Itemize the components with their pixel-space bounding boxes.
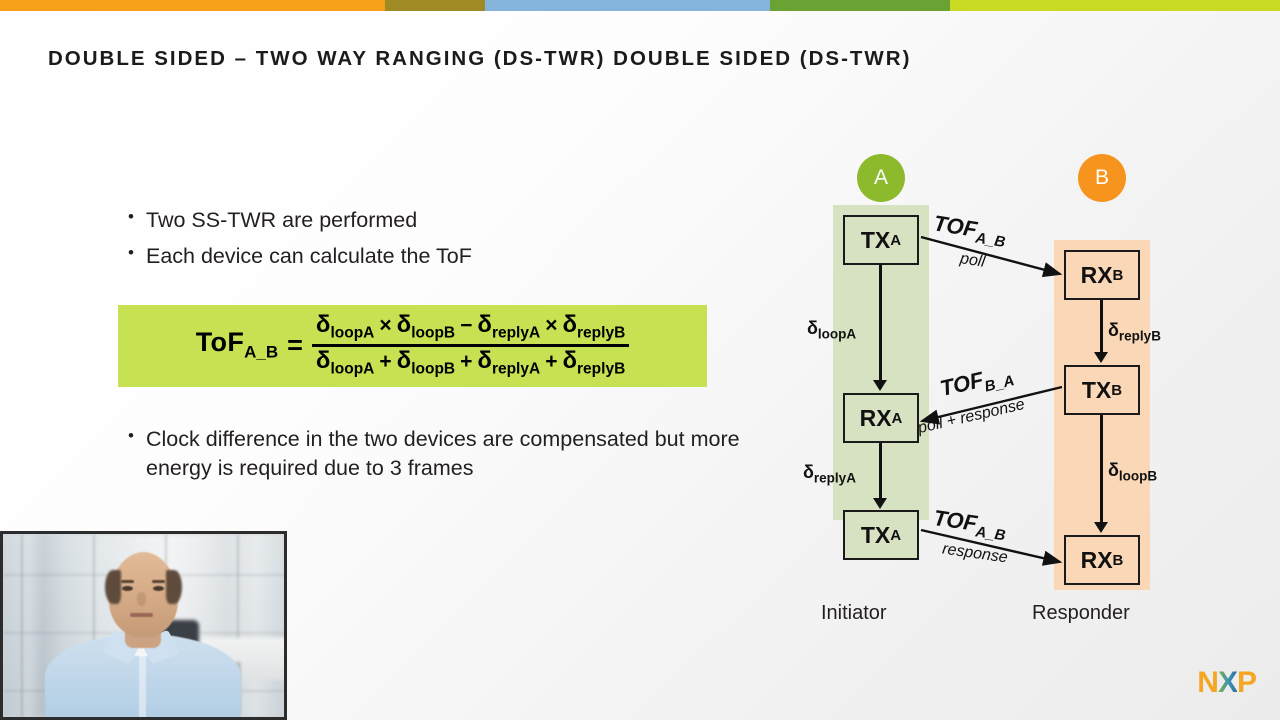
operator: −: [460, 314, 472, 337]
delta-symbol: δ: [397, 311, 412, 338]
caption-text: poll: [959, 250, 986, 271]
logo-letter-x: X: [1218, 666, 1237, 699]
delta-subscript: loopA: [330, 325, 374, 342]
presenter-eyebrow-right: [152, 580, 165, 583]
delta-subscript: replyB: [577, 360, 625, 377]
presenter-eye-right: [153, 586, 164, 591]
operator: +: [460, 350, 472, 373]
caption-initiator: Initiator: [821, 602, 887, 625]
formula-left-hand-side: ToFA_B: [196, 327, 278, 362]
presenter-mouth: [130, 613, 153, 617]
top-color-bar: [0, 0, 1280, 11]
logo-letter-p: P: [1237, 666, 1256, 699]
message-caption-poll: poll: [959, 250, 986, 272]
presenter-eye-left: [122, 586, 133, 591]
slide-title: DOUBLE SIDED – TWO WAY RANGING (DS-TWR) …: [48, 47, 1148, 71]
logo-letter-n: N: [1197, 666, 1218, 699]
bullet-marker: •: [128, 425, 146, 448]
topbar-segment-lime: [950, 0, 1280, 11]
delta-symbol: δ: [316, 311, 331, 338]
formula-denominator: δloopA+δloopB+δreplyA+δreplyB: [312, 347, 629, 379]
bullet-text: Clock difference in the two devices are …: [146, 425, 768, 483]
delta-symbol: δ: [397, 347, 412, 374]
bullet-text: Two SS-TWR are performed: [146, 206, 768, 235]
bullet-marker: •: [128, 242, 146, 265]
formula-equals-sign: =: [287, 330, 303, 361]
bullet-marker: •: [128, 206, 146, 229]
nxp-logo: NXP: [1197, 668, 1256, 698]
delta-symbol: δ: [477, 311, 492, 338]
delta-symbol: δ: [477, 347, 492, 374]
delta-subscript: loopA: [330, 360, 374, 377]
presenter-hair-left: [105, 570, 121, 604]
tof-text: TOF: [932, 210, 979, 242]
delta-symbol: δ: [562, 311, 577, 338]
topbar-segment-blue: [485, 0, 770, 11]
delta-subscript: replyA: [492, 360, 540, 377]
formula-fraction: δloopA×δloopB−δreplyA×δreplyB δloopA+δlo…: [312, 311, 629, 378]
presenter-hair-right: [166, 570, 182, 604]
bullet-list-top: • Two SS-TWR are performed • Each device…: [128, 206, 768, 278]
bullet-item: • Each device can calculate the ToF: [128, 242, 768, 271]
formula-numerator: δloopA×δloopB−δreplyA×δreplyB: [312, 311, 629, 343]
formula-lhs-main: ToF: [196, 327, 244, 357]
bullet-item: • Clock difference in the two devices ar…: [128, 425, 768, 483]
presenter-shirt-placket: [139, 654, 146, 720]
tof-text: TOF: [932, 505, 979, 536]
presenter-webcam-overlay[interactable]: [0, 531, 287, 720]
delta-subscript: replyB: [577, 325, 625, 342]
delta-subscript: loopB: [411, 325, 455, 342]
topbar-segment-orange: [0, 0, 385, 11]
topbar-segment-olive: [385, 0, 485, 11]
formula-box: ToFA_B = δloopA×δloopB−δreplyA×δreplyB δ…: [118, 305, 707, 387]
bullet-text: Each device can calculate the ToF: [146, 242, 768, 271]
operator: +: [545, 350, 557, 373]
topbar-segment-green: [770, 0, 950, 11]
slide-root: DOUBLE SIDED – TWO WAY RANGING (DS-TWR) …: [0, 0, 1280, 720]
delta-symbol: δ: [562, 347, 577, 374]
bullet-item: • Two SS-TWR are performed: [128, 206, 768, 235]
presenter-eyebrow-left: [121, 580, 134, 583]
delta-subscript: replyA: [492, 325, 540, 342]
presenter-nose: [137, 592, 146, 606]
formula-lhs-subscript: A_B: [244, 343, 278, 362]
bullet-list-bottom: • Clock difference in the two devices ar…: [128, 425, 768, 490]
operator: ×: [545, 314, 557, 337]
operator: ×: [379, 314, 391, 337]
caption-responder: Responder: [1032, 602, 1130, 625]
formula-expression: ToFA_B = δloopA×δloopB−δreplyA×δreplyB δ…: [196, 311, 630, 378]
delta-symbol: δ: [316, 347, 331, 374]
ds-twr-sequence-diagram: A B TXA RXA TXA RXB TXB RXB δloopA δrepl…: [800, 140, 1200, 640]
delta-subscript: loopB: [411, 360, 455, 377]
operator: +: [379, 350, 391, 373]
